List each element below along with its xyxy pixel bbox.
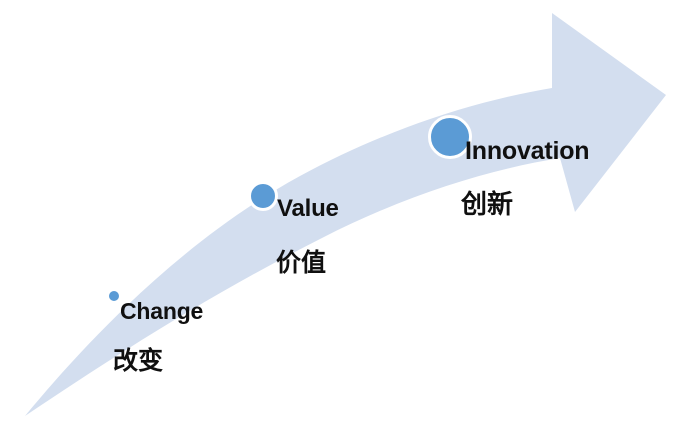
diagram-canvas: Change 改变 Value 价值 Innovation 创新 bbox=[0, 0, 675, 434]
label-value-en: Value bbox=[277, 197, 339, 221]
label-innovation-en: Innovation bbox=[465, 139, 589, 164]
marker-dot-change bbox=[107, 289, 121, 303]
label-innovation-zh: 创新 bbox=[461, 191, 513, 217]
label-change-zh: 改变 bbox=[113, 349, 163, 374]
marker-dot-value bbox=[248, 181, 278, 211]
label-value-zh: 价值 bbox=[276, 251, 326, 276]
label-change-en: Change bbox=[120, 300, 203, 323]
